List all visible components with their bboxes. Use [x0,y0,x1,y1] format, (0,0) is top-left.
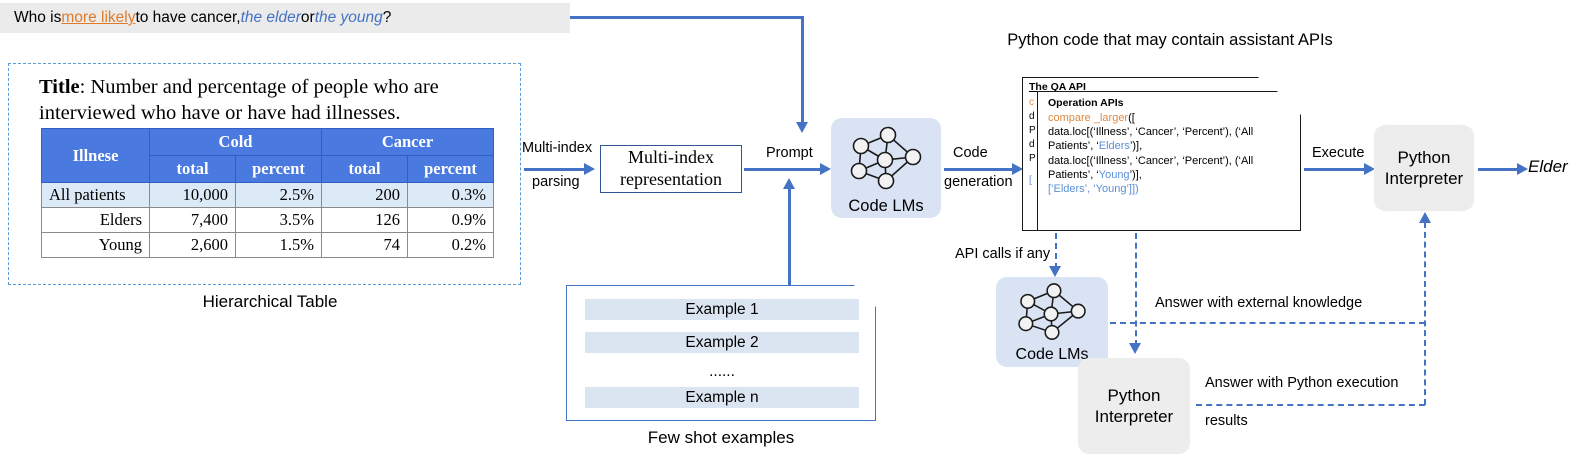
hierarchical-table: Illnese Cold Cancer total percent total … [41,128,494,258]
fewshot-item: Example 1 [585,299,859,320]
question-connector-arrowhead [796,122,808,133]
table-header-illnese: Illnese [42,129,150,183]
answer-external-dashed-line [1110,322,1425,324]
prompt-arrow-line [744,168,822,171]
code-card-back-line-3: P [1029,124,1036,137]
fewshot-ellipsis: ...... [585,362,859,381]
prompt-arrow-head [820,163,831,175]
code-to-interpreter-dashed-line [1135,233,1137,346]
answer-python-dashed-line [1196,404,1425,406]
table-row: All patients 10,000 2.5% 200 0.3% [42,183,494,208]
table-row: Elders 7,400 3.5% 126 0.9% [42,208,494,233]
fewshot-arrow-line [788,188,791,285]
code-generation-label-bottom: generation [944,174,1013,190]
table-header-cancer-percent: percent [408,156,494,183]
question-suffix: ? [383,9,392,27]
multi-index-box-line1: Multi-index [620,147,722,169]
code-generation-label-top: Code [953,145,988,161]
code-lms-box: Code LMs [831,118,941,218]
python-interpreter-line1: Python [1385,147,1463,168]
code-function-name: compare _larger [1048,112,1128,124]
api-calls-label: API calls if any [955,246,1050,262]
api-calls-dashed-line [1055,233,1057,269]
question-connector-horizontal [570,16,803,19]
code-card-front-body: compare _larger([ data.loc[(‘Illness’, ‘… [1048,111,1298,196]
python-interpreter-box: Python Interpreter [1374,125,1474,211]
code-line-5-c: ’)], [1130,169,1142,181]
neural-network-icon [831,124,941,196]
output-arrow-head [1517,163,1528,175]
table-cell-cold-total: 10,000 [150,183,236,208]
table-cell-label: Young [42,233,150,258]
multi-index-representation-box: Multi-index representation [600,145,742,193]
table-cell-cold-total: 7,400 [150,208,236,233]
table-title: Title: Number and percentage of people w… [39,74,489,126]
question-conjunction: or [301,9,315,27]
table-cell-cancer-total: 126 [322,208,408,233]
feedback-dashed-vertical [1424,222,1426,405]
code-line-2: data.loc[(‘Illness’, ‘Cancer’, ‘Percent’… [1048,125,1298,139]
question-bar: Who is more likely to have cancer, the e… [0,3,570,33]
code-line-3: Patients’, ‘Elders’)], [1048,139,1298,153]
hierarchical-table-panel: Title: Number and percentage of people w… [8,63,521,285]
output-arrow-line [1478,168,1520,171]
api-calls-arrow-head [1049,266,1061,277]
table-cell-label: Elders [42,208,150,233]
question-prefix: Who is [14,9,61,27]
execute-label: Execute [1312,145,1364,161]
code-line-3-a: Patients’, ‘ [1048,140,1099,152]
fewshot-caption: Few shot examples [566,428,876,448]
question-highlight: more likely [61,9,135,27]
table-title-label: Title [39,76,80,98]
table-header-cold-total: total [150,156,236,183]
table-cell-cancer-total: 74 [322,233,408,258]
table-cell-cold-percent: 2.5% [236,183,322,208]
python-interpreter-2-line2: Interpreter [1095,406,1173,427]
code-line-1: compare _larger([ [1048,111,1298,125]
table-header-row-1: Illnese Cold Cancer [42,129,494,156]
code-generation-arrow-head [1012,163,1023,175]
code-lms-label: Code LMs [831,197,941,216]
code-to-interpreter-arrow-head [1129,343,1141,354]
multi-index-arrow-head [584,163,595,175]
table-header-cold: Cold [150,129,322,156]
feedback-arrow-head [1419,212,1431,223]
question-middle: to have cancer, [135,9,240,27]
table-header-cancer-total: total [322,156,408,183]
multi-index-arrow-line [524,168,586,171]
answer-python-results-label: results [1205,413,1248,429]
multi-index-box-line2: representation [620,169,722,191]
fewshot-item: Example n [585,387,859,408]
code-line-4: data.loc[(‘Illness’, ‘Cancer’, ‘Percent’… [1048,154,1298,168]
neural-network-icon [996,282,1108,346]
question-option-elder: the elder [241,9,301,27]
code-line-3-c: ’)], [1130,140,1142,152]
fewshot-arrow-head [783,178,795,189]
hierarchical-table-caption: Hierarchical Table [155,292,385,312]
prompt-label: Prompt [766,145,813,161]
question-option-young: the young [315,9,383,27]
multi-index-parsing-label-bottom: parsing [532,174,580,190]
table-header-cold-percent: percent [236,156,322,183]
question-connector-vertical [801,16,804,124]
code-card-front-heading: Operation APIs [1048,97,1123,109]
table-row: Young 2,600 1.5% 74 0.2% [42,233,494,258]
code-card-back-line-2: d [1029,110,1035,123]
code-card-front: Operation APIs compare _larger([ data.lo… [1037,91,1301,231]
table-cell-cancer-total: 200 [322,183,408,208]
table-cell-label: All patients [42,183,150,208]
code-line-1-tail: ([ [1128,112,1135,124]
code-generation-arrow-line [944,168,1014,171]
table-cell-cold-total: 2,600 [150,233,236,258]
code-card-back-line-6: [ [1029,174,1032,187]
python-interpreter-line2: Interpreter [1385,168,1463,189]
table-cell-cancer-percent: 0.2% [408,233,494,258]
python-interpreter-box-2: Python Interpreter [1078,358,1190,454]
table-cell-cold-percent: 1.5% [236,233,322,258]
python-interpreter-2-line1: Python [1095,385,1173,406]
code-line-6: [‘Elders’, ‘Young’]]) [1048,182,1298,196]
execute-arrow-line [1304,168,1366,171]
code-token-elders: Elders [1099,140,1130,152]
code-section-title: Python code that may contain assistant A… [970,31,1370,50]
table-cell-cancer-percent: 0.3% [408,183,494,208]
table-cell-cancer-percent: 0.9% [408,208,494,233]
code-line-5-a: Patients’, ‘ [1048,169,1099,181]
code-card-back-line-4: d [1029,138,1035,151]
multi-index-parsing-label-top: Multi-index [522,140,592,156]
code-lms-box-2: Code LMs [996,277,1108,367]
code-card-back-line-1: c [1029,96,1034,109]
output-answer: Elder [1528,157,1568,177]
code-card-back-line-5: P [1029,152,1036,165]
table-header-cancer: Cancer [322,129,494,156]
answer-external-knowledge-label: Answer with external knowledge [1155,295,1362,311]
table-cell-cold-percent: 3.5% [236,208,322,233]
code-token-young: Young [1099,169,1130,181]
fewshot-item: Example 2 [585,332,859,353]
answer-python-execution-label: Answer with Python execution [1205,375,1398,391]
code-line-5: Patients’, ‘Young’)], [1048,168,1298,182]
fewshot-examples-card: Example 1 Example 2 ...... Example n [566,285,876,421]
table-title-text: : Number and percentage of people who ar… [39,76,439,124]
